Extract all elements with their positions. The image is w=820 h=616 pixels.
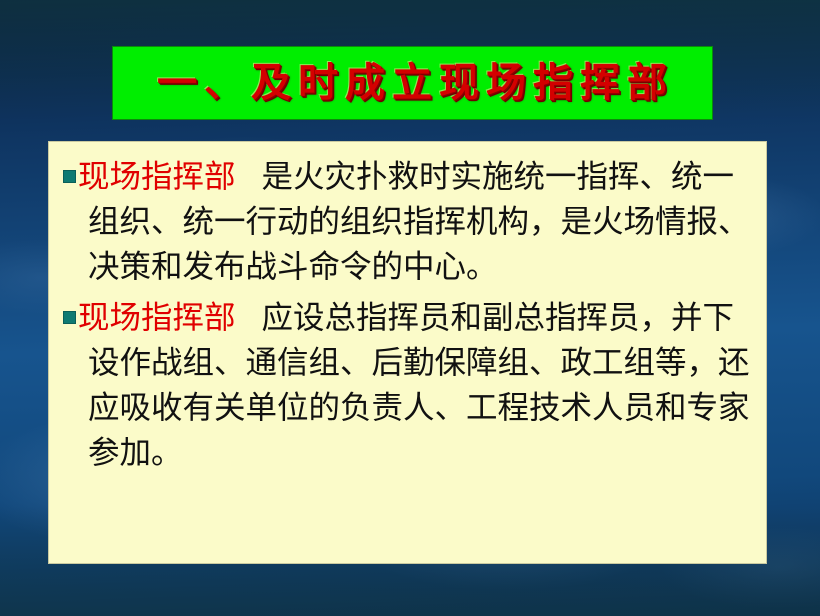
square-bullet-icon bbox=[63, 311, 76, 324]
bullet-lead-term-1: 现场指挥部 bbox=[78, 159, 236, 195]
bullet-body-1: 现场指挥部是火灾扑救时实施统一指挥、统一组织、统一行动的组织指挥机构，是火场情报… bbox=[88, 155, 756, 290]
bullet-item-2: 现场指挥部应设总指挥员和副总指挥员，并下设作战组、通信组、后勤保障组、政工组等，… bbox=[55, 296, 756, 476]
slide-content-card: 现场指挥部是火灾扑救时实施统一指挥、统一组织、统一行动的组织指挥机构，是火场情报… bbox=[48, 141, 767, 564]
presentation-slide: 一、及时成立现场指挥部 现场指挥部是火灾扑救时实施统一指挥、统一组织、统一行动的… bbox=[0, 0, 820, 616]
bullet-item-1: 现场指挥部是火灾扑救时实施统一指挥、统一组织、统一行动的组织指挥机构，是火场情报… bbox=[55, 155, 756, 290]
slide-title-banner: 一、及时成立现场指挥部 bbox=[112, 46, 713, 120]
bullet-body-2: 现场指挥部应设总指挥员和副总指挥员，并下设作战组、通信组、后勤保障组、政工组等，… bbox=[88, 296, 756, 476]
page-title: 一、及时成立现场指挥部 bbox=[151, 63, 674, 103]
bullet-lead-term-2: 现场指挥部 bbox=[78, 300, 236, 336]
square-bullet-icon bbox=[63, 170, 76, 183]
